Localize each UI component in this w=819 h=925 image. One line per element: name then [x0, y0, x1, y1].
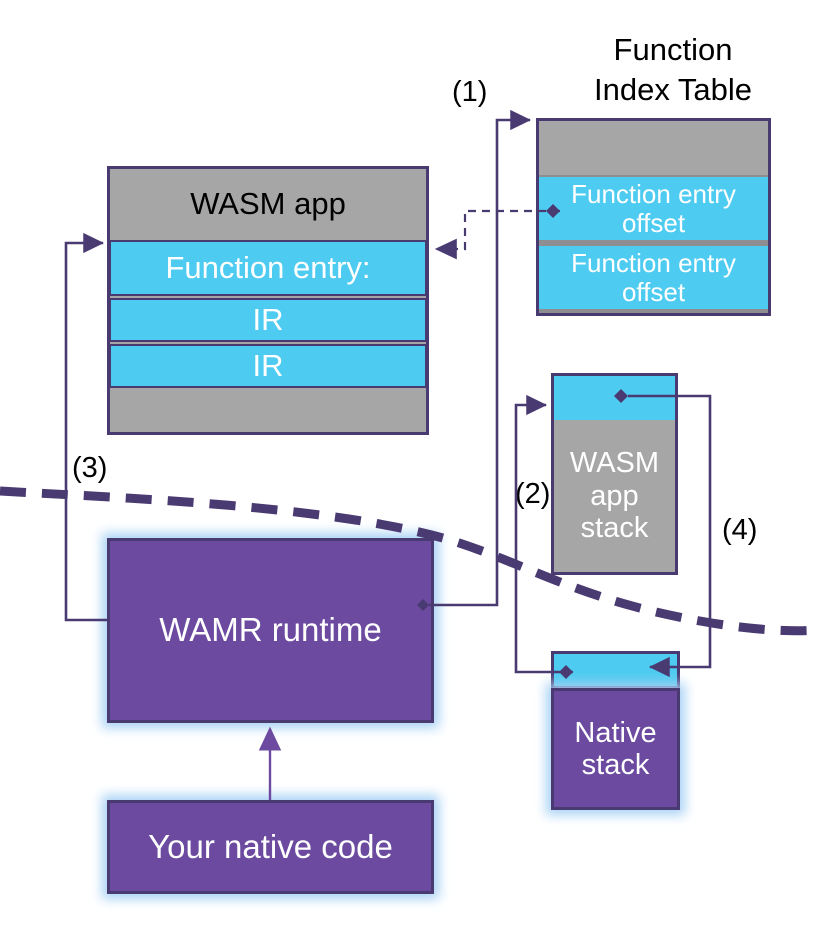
function-index-table-row-2-label: Function entry offset [539, 249, 768, 306]
function-index-table-title-line1: Function [548, 30, 798, 70]
wasm-app-row-0: Function entry: [109, 240, 427, 296]
wasm-app-row-1: IR [109, 298, 427, 342]
wasm-app-row-1-label: IR [253, 303, 284, 338]
native-stack-top-band [551, 651, 680, 689]
function-index-table-row-0 [539, 121, 768, 175]
wasm-app-box: WASM app Function entry: IR IR [107, 166, 429, 435]
function-index-table-title: Function Index Table [548, 30, 798, 109]
wasm-app-header-label: WASM app [190, 187, 346, 222]
connector-3-runtime-to-wasm-entry [66, 243, 110, 620]
native-stack-label-line2: stack [582, 749, 650, 781]
function-index-table-row-1-label: Function entry offset [539, 180, 768, 237]
step-label-3: (3) [72, 452, 107, 485]
native-stack-label-line1: Native [574, 717, 656, 749]
native-stack-box: Native stack [551, 688, 680, 810]
your-native-code-label: Your native code [148, 829, 393, 866]
wasm-app-row-2: IR [109, 344, 427, 388]
wasm-app-row-0-label: Function entry: [165, 251, 370, 286]
function-index-table: Function entry offset Function entry off… [536, 118, 771, 316]
step-label-2: (2) [515, 478, 550, 511]
your-native-code-box: Your native code [107, 800, 434, 894]
wasm-app-stack-label-line2: app stack [554, 480, 675, 545]
wasm-app-stack-label-line1: WASM [570, 447, 659, 479]
step-label-1: (1) [452, 76, 487, 109]
wasm-app-stack-box: WASM app stack [551, 373, 678, 575]
diagram-canvas: Function Index Table (1) (2) (3) (4) Fun… [0, 0, 819, 925]
function-index-table-title-line2: Index Table [548, 70, 798, 110]
wasm-app-row-2-label: IR [253, 349, 284, 384]
function-index-table-row-1: Function entry offset [539, 177, 768, 240]
wamr-runtime-box: WAMR runtime [107, 538, 434, 723]
function-index-table-row-2: Function entry offset [539, 246, 768, 309]
wamr-runtime-label: WAMR runtime [159, 612, 381, 649]
step-label-4: (4) [722, 514, 757, 547]
wasm-app-stack-body: WASM app stack [554, 420, 675, 572]
wasm-app-header: WASM app [110, 169, 426, 240]
wasm-app-stack-top-band [554, 376, 675, 420]
